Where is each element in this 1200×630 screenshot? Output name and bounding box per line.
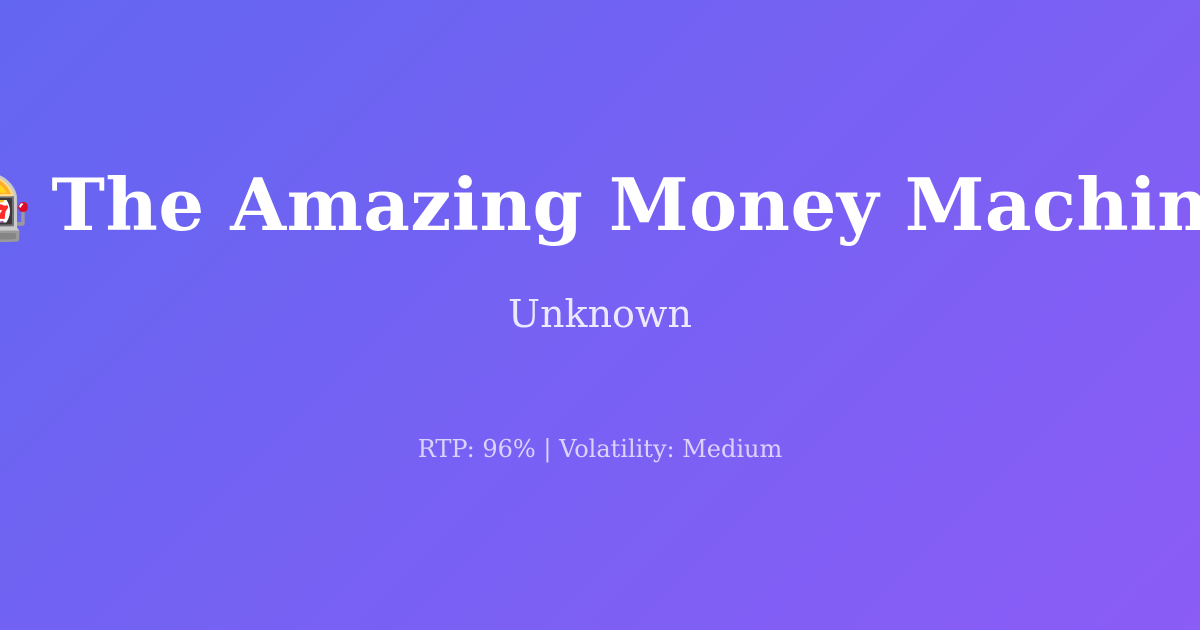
slot-machine-emoji-icon: 🎰 bbox=[0, 166, 33, 244]
og-share-card: 🎰 The Amazing Money Machine Unknown RTP:… bbox=[0, 0, 1200, 630]
game-stats-line: RTP: 96% | Volatility: Medium bbox=[418, 434, 783, 464]
title-row: 🎰 The Amazing Money Machine bbox=[0, 166, 1200, 244]
page-title: The Amazing Money Machine bbox=[51, 166, 1200, 244]
subtitle: Unknown bbox=[508, 292, 692, 338]
